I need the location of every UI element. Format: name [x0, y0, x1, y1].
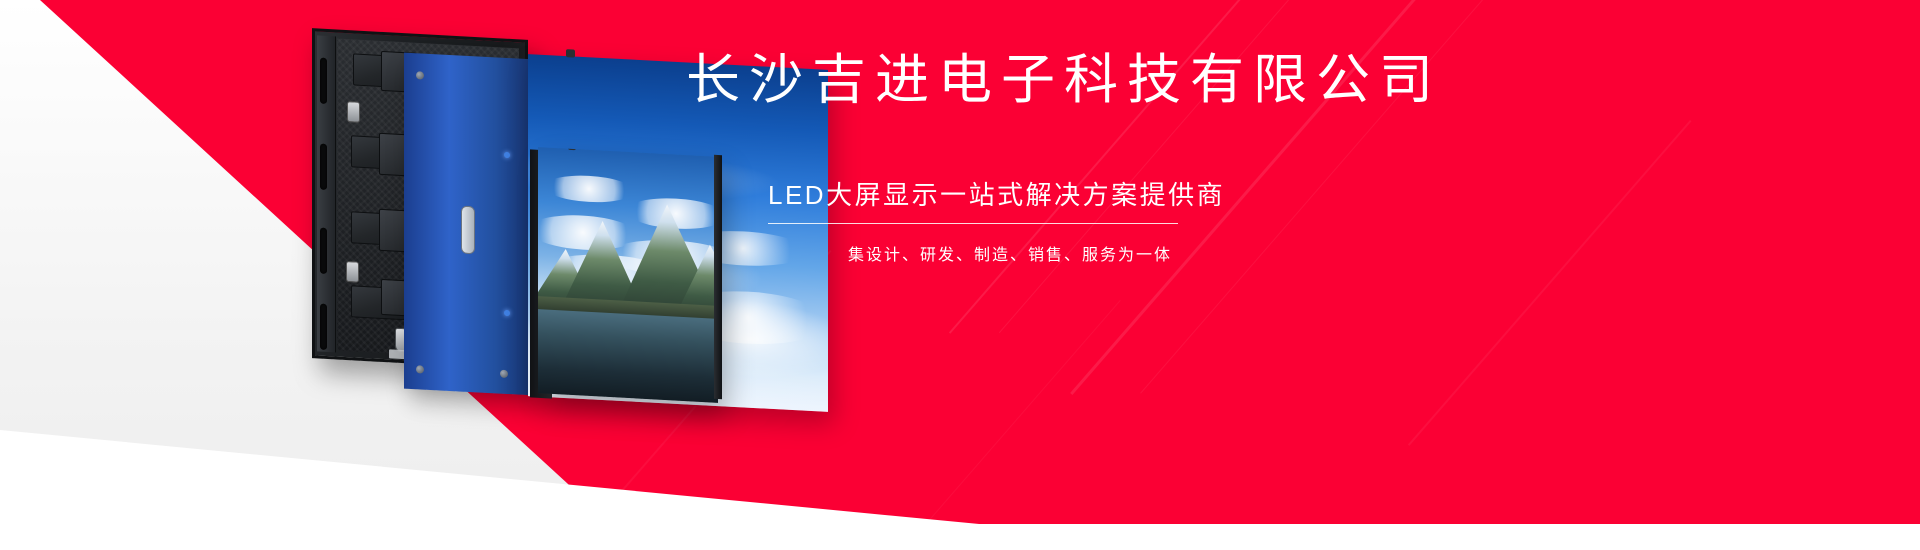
cabinet-vent-slot — [320, 144, 327, 190]
cabinet-connector — [347, 101, 360, 123]
panel-screw — [500, 370, 508, 378]
cabinet-connector — [346, 261, 359, 283]
cabinet-vent-slot — [320, 304, 327, 350]
panel-indicator-light-icon — [504, 152, 510, 158]
cabinet-vent-slot — [320, 58, 327, 104]
banner-subtitle: LED大屏显示一站式解决方案提供商 — [768, 175, 1320, 212]
cloud-shape — [544, 173, 634, 204]
panel-handle — [461, 206, 475, 255]
panel-screw — [416, 365, 424, 373]
cabinet-vent-slot — [320, 228, 327, 274]
panel-top-nub — [566, 49, 575, 57]
water-shape — [538, 310, 718, 403]
subline-group: LED大屏显示一站式解决方案提供商 集设计、研发、制造、销售、服务为一体 — [680, 175, 1320, 265]
company-name-heading: 长沙吉进电子科技有限公司 — [680, 52, 1320, 109]
hero-banner: 长沙吉进电子科技有限公司 LED大屏显示一站式解决方案提供商 集设计、研发、制造… — [0, 0, 1920, 550]
banner-tagline: 集设计、研发、制造、销售、服务为一体 — [768, 241, 1320, 265]
background-white-bottom-strip — [0, 524, 1920, 550]
panel-indicator-light-icon — [504, 310, 510, 316]
led-panel-blue-frame — [404, 53, 534, 396]
banner-text-block: 长沙吉进电子科技有限公司 LED大屏显示一站式解决方案提供商 集设计、研发、制造… — [680, 52, 1320, 281]
panel-screw — [416, 71, 424, 79]
subtitle-divider — [768, 223, 1178, 224]
